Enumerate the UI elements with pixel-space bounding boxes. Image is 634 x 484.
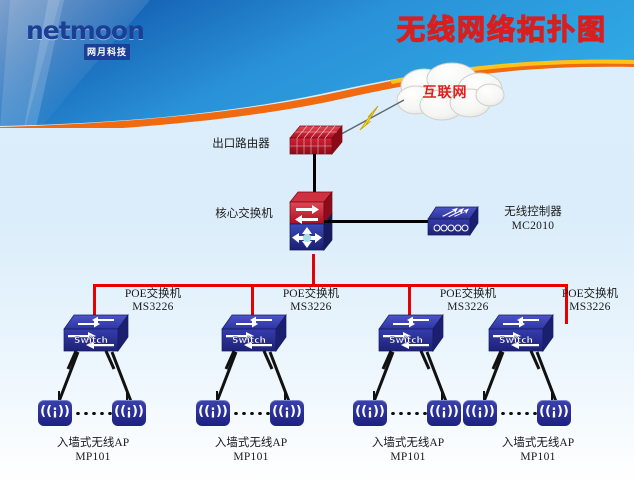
access-point-model-1: MP101	[42, 451, 144, 465]
poe-switch-model-4: MS3226	[547, 301, 633, 315]
core-switch-to-poe-bus-link	[312, 254, 315, 286]
ap-wireless-symbol: ((¡))	[463, 403, 497, 421]
poe-switch-label-3: POE交换机	[425, 288, 511, 302]
ap-wireless-symbol: ((¡))	[353, 403, 387, 421]
access-point-icon-3a: ((¡))	[353, 400, 387, 426]
ap-expansion-dots-3	[389, 412, 427, 415]
access-point-label-4: 入墙式无线AP	[487, 437, 589, 451]
router-icon	[288, 124, 344, 162]
svg-text:Switch: Switch	[232, 336, 266, 346]
ap-wireless-symbol: ((¡))	[537, 403, 571, 421]
brand-logo-chinese-name: 网月科技	[84, 44, 130, 60]
poe-distribution-bus	[93, 284, 568, 287]
poe-switch-label-1: POE交换机	[110, 288, 196, 302]
brand-logo-wordmark: netmoon	[26, 16, 144, 45]
ap-wireless-symbol: ((¡))	[196, 403, 230, 421]
core-switch-icon	[288, 190, 340, 260]
ap-expansion-dots-2	[232, 412, 270, 415]
access-point-icon-1a: ((¡))	[38, 400, 72, 426]
wireless-controller-icon	[424, 205, 482, 241]
core-switch-to-controller-link	[324, 220, 430, 223]
ap-wireless-symbol: ((¡))	[38, 403, 72, 421]
wireless-controller-model: MC2010	[478, 220, 588, 234]
page-title: 无线网络拓扑图	[382, 8, 622, 48]
ap-wireless-symbol: ((¡))	[427, 403, 461, 421]
access-point-model-3: MP101	[357, 451, 459, 465]
access-point-label-1: 入墙式无线AP	[42, 437, 144, 451]
wireless-controller-label: 无线控制器	[478, 206, 588, 220]
internet-cloud-label: 互联网	[405, 82, 485, 102]
access-point-icon-2a: ((¡))	[196, 400, 230, 426]
access-point-icon-4a: ((¡))	[463, 400, 497, 426]
access-point-model-4: MP101	[487, 451, 589, 465]
svg-text:Switch: Switch	[499, 336, 533, 346]
page-header: netmoon 网月科技 无线网络拓扑图	[0, 0, 634, 128]
svg-text:Switch: Switch	[74, 336, 108, 346]
topology-diagram-canvas: netmoon 网月科技 无线网络拓扑图 互联网 出口路	[0, 0, 634, 484]
svg-text:Switch: Switch	[389, 336, 423, 346]
access-point-icon-3b: ((¡))	[427, 400, 461, 426]
brand-logo: netmoon 网月科技	[26, 16, 166, 62]
ap-wireless-symbol: ((¡))	[112, 403, 146, 421]
access-point-icon-4b: ((¡))	[537, 400, 571, 426]
access-point-label-2: 入墙式无线AP	[200, 437, 302, 451]
access-point-label-3: 入墙式无线AP	[357, 437, 459, 451]
core-switch-label: 核心交换机	[196, 208, 292, 222]
ap-expansion-dots-4	[499, 412, 537, 415]
ap-wireless-symbol: ((¡))	[270, 403, 304, 421]
access-point-model-2: MP101	[200, 451, 302, 465]
access-point-icon-1b: ((¡))	[112, 400, 146, 426]
router-label: 出口路由器	[196, 138, 286, 152]
ap-expansion-dots-1	[74, 412, 112, 415]
access-point-icon-2b: ((¡))	[270, 400, 304, 426]
poe-switch-label-4: POE交换机	[547, 288, 633, 302]
poe-switch-label-2: POE交换机	[268, 288, 354, 302]
